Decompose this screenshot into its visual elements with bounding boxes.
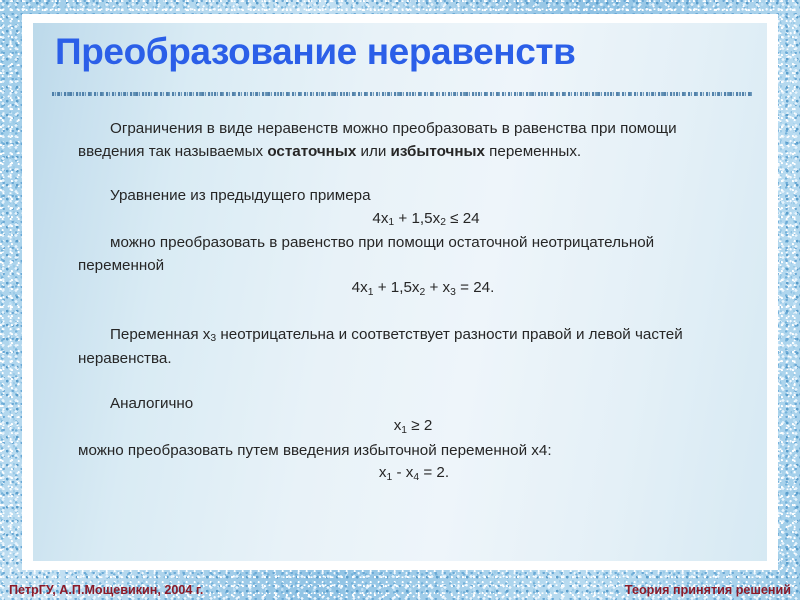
formula-lower-bound: x1 ≥ 2	[78, 415, 738, 440]
formula-inequality-sub-1: 1	[388, 217, 394, 228]
formula-equality-surplus: x1 - x4 = 2.	[78, 462, 738, 487]
formula-inequality: 4x1 + 1,5x2 ≤ 24	[78, 208, 738, 233]
formula-equality-rhs: = 24.	[456, 279, 494, 296]
formula-equality-sub-1: 1	[368, 287, 374, 298]
paragraph-variable-text-1: Переменная x	[110, 326, 210, 343]
formula-equality-term-2: + 1,5x	[373, 279, 419, 296]
formula-equality-term-3: + x	[425, 279, 450, 296]
paragraph-variable-meaning: Переменная x3 неотрицательна и соответст…	[78, 324, 738, 371]
paragraph-variable-sub: 3	[210, 333, 216, 344]
formula-surplus-sub-2: 4	[413, 472, 419, 483]
formula-equality-sub-2: 2	[419, 287, 425, 298]
formula-surplus-term-2: - x	[392, 464, 413, 481]
paragraph-intro-bold-surplus: избыточных	[391, 143, 485, 160]
paragraph-surplus-conversion: можно преобразовать путем введения избыт…	[78, 440, 738, 463]
spacer-1	[78, 163, 738, 185]
formula-inequality-term-2: + 1,5x	[394, 210, 440, 227]
formula-surplus-sub-1: 1	[387, 472, 393, 483]
formula-surplus-rhs: = 2.	[419, 464, 449, 481]
formula-surplus-term-1: x	[379, 464, 387, 481]
title-divider-rule	[52, 92, 752, 96]
paragraph-intro-text-2: или	[356, 143, 390, 160]
paragraph-intro-bold-slack: остаточных	[267, 143, 356, 160]
paragraph-previous-example: Уравнение из предыдущего примера	[78, 185, 738, 208]
paragraph-slack-conversion: можно преобразовать в равенство при помо…	[78, 232, 738, 277]
spacer-3	[78, 371, 738, 393]
slide-border-frame: Преобразование неравенств Ограничения в …	[0, 0, 800, 600]
formula-inequality-rhs: ≤ 24	[446, 210, 480, 227]
paragraph-intro-text-3: переменных.	[485, 143, 581, 160]
paragraph-intro: Ограничения в виде неравенств можно прео…	[78, 118, 738, 163]
spacer-2	[78, 302, 738, 324]
formula-lower-bound-sub: 1	[401, 425, 407, 436]
formula-equality-term-1: 4x	[352, 279, 368, 296]
slide-title: Преобразование неравенств	[55, 32, 755, 73]
paragraph-analogously: Аналогично	[78, 393, 738, 416]
slide-body-content: Ограничения в виде неравенств можно прео…	[78, 118, 738, 487]
formula-equality-slack: 4x1 + 1,5x2 + x3 = 24.	[78, 277, 738, 302]
footer-attribution: ПетрГУ, А.П.Мощевикин, 2004 г.	[9, 583, 203, 597]
footer-course-title: Теория принятия решений	[625, 583, 791, 597]
formula-inequality-sub-2: 2	[440, 217, 446, 228]
formula-inequality-term-1: 4x	[372, 210, 388, 227]
formula-lower-bound-rhs: ≥ 2	[407, 417, 432, 434]
formula-equality-sub-3: 3	[450, 287, 456, 298]
